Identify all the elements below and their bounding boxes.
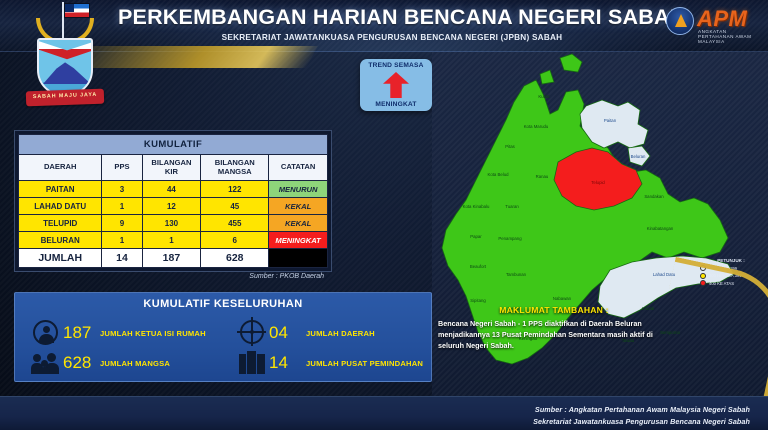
table-row: LAHAD DATU 1 12 45 KEKAL bbox=[19, 198, 328, 215]
footer-bar: Sumber : Angkatan Pertahanan Awam Malays… bbox=[0, 396, 768, 430]
map-label-sandakan: Sandakan bbox=[644, 194, 664, 199]
stat-value: 04 bbox=[269, 323, 299, 343]
map-label-nabawan: Nabawan bbox=[553, 296, 572, 301]
col-header-mangsa: BILANGANMANGSA bbox=[201, 155, 269, 181]
status-badge: KEKAL bbox=[269, 198, 328, 215]
stat-label: JUMLAH PUSAT PEMINDAHAN bbox=[306, 359, 423, 368]
stat-label: JUMLAH MANGSA bbox=[100, 359, 170, 368]
map-label-kota-kinabalu: Kota Kinabalu bbox=[463, 204, 490, 209]
status-badge: MENURUN bbox=[269, 181, 328, 198]
footer-source-line2: Sekretariat Jawatankuasa Pengurusan Benc… bbox=[533, 417, 750, 426]
table-title-row: KUMULATIF bbox=[19, 135, 328, 155]
map-label-ranau: Ranau bbox=[536, 174, 549, 179]
table-source-note: Sumber : PKOB Daerah bbox=[14, 273, 332, 280]
cell-kir: 12 bbox=[142, 198, 201, 215]
table-total-row: JUMLAH 14 187 628 bbox=[19, 249, 328, 268]
page-title: PERKEMBANGAN HARIAN BENCANA NEGERI SABAH bbox=[118, 5, 666, 30]
summary-panel: KUMULATIF KESELURUHAN 187 JUMLAH KETUA I… bbox=[14, 292, 432, 382]
total-label: JUMLAH bbox=[19, 249, 102, 268]
cell-mangsa: 6 bbox=[201, 232, 269, 249]
cell-pps: 1 bbox=[102, 198, 142, 215]
table-header-row: DAERAH PPS BILANGANKIR BILANGANMANGSA CA… bbox=[19, 155, 328, 181]
stat-mangsa: 628 JUMLAH MANGSA bbox=[31, 349, 170, 377]
crest-mountain bbox=[43, 60, 91, 84]
crest-motto: SABAH MAJU JAYA bbox=[26, 91, 104, 100]
cell-mangsa: 122 bbox=[201, 181, 269, 198]
island-small-a bbox=[540, 70, 554, 84]
cell-daerah: LAHAD DATU bbox=[19, 198, 102, 215]
maklumat-tambahan: MAKLUMAT TAMBAHAN : Bencana Negeri Sabah… bbox=[438, 305, 670, 351]
infographic-root: PERKEMBANGAN HARIAN BENCANA NEGERI SABAH… bbox=[0, 0, 768, 430]
map-label-tambunan: Tambunan bbox=[506, 272, 527, 277]
status-badge: MENINGKAT bbox=[269, 232, 328, 249]
stat-daerah: 04 JUMLAH DAERAH bbox=[237, 319, 375, 347]
cell-pps: 3 bbox=[102, 181, 142, 198]
crest-chevron bbox=[37, 40, 93, 60]
cell-kir: 44 bbox=[142, 181, 201, 198]
map-label-pitas: Pitas bbox=[505, 144, 515, 149]
crest-ribbon: SABAH MAJU JAYA bbox=[26, 89, 104, 107]
status-badge: KEKAL bbox=[269, 215, 328, 232]
stat-pusat-pemindahan: 14 JUMLAH PUSAT PEMINDAHAN bbox=[237, 349, 423, 377]
col-header-kir: BILANGANKIR bbox=[142, 155, 201, 181]
stat-value: 14 bbox=[269, 353, 299, 373]
map-label-beaufort: Beaufort bbox=[470, 264, 487, 269]
maklumat-title: MAKLUMAT TAMBAHAN : bbox=[438, 305, 670, 315]
map-label-tuaran: Tuaran bbox=[505, 204, 519, 209]
map-label-beluran: Beluran bbox=[631, 154, 646, 159]
total-catatan-blank bbox=[269, 249, 328, 268]
footer-source-line1: Sumber : Angkatan Pertahanan Awam Malays… bbox=[535, 405, 750, 414]
total-mangsa: 628 bbox=[201, 249, 269, 268]
table-row: PAITAN 3 44 122 MENURUN bbox=[19, 181, 328, 198]
kumulatif-table: KUMULATIF DAERAH PPS BILANGANKIR BILANGA… bbox=[18, 134, 328, 268]
cell-mangsa: 455 bbox=[201, 215, 269, 232]
apm-logo: APM ANGKATAN PERTAHANAN AWAM MALAYSIA bbox=[666, 4, 762, 40]
arrow-up-icon bbox=[383, 72, 409, 98]
kumulatif-table-panel: KUMULATIF DAERAH PPS BILANGANKIR BILANGA… bbox=[14, 130, 332, 272]
island-banggi bbox=[560, 54, 582, 72]
header-bar: PERKEMBANGAN HARIAN BENCANA NEGERI SABAH… bbox=[0, 0, 768, 52]
stat-value: 628 bbox=[63, 353, 93, 373]
map-label-kota-belud: Kota Belud bbox=[487, 172, 509, 177]
map-label-sipitang: Sipitang bbox=[470, 298, 486, 303]
legend-title: PETUNJUK : bbox=[700, 258, 762, 263]
cell-pps: 1 bbox=[102, 232, 142, 249]
map-label-paitan: Paitan bbox=[604, 118, 617, 123]
col-header-pps: PPS bbox=[102, 155, 142, 181]
page-subtitle: SEKRETARIAT JAWATANKUASA PENGURUSAN BENC… bbox=[118, 33, 666, 42]
building-icon bbox=[237, 349, 267, 377]
cell-daerah: BELURAN bbox=[19, 232, 102, 249]
map-label-kudat: Kudat bbox=[538, 94, 550, 99]
cell-daerah: PAITAN bbox=[19, 181, 102, 198]
map-label-kinabatangan: Kinabatangan bbox=[647, 226, 674, 231]
stat-value: 187 bbox=[63, 323, 93, 343]
cell-pps: 9 bbox=[102, 215, 142, 232]
map-label-papar: Papar bbox=[470, 234, 482, 239]
stat-label: JUMLAH KETUA ISI RUMAH bbox=[100, 329, 206, 338]
table-row: BELURAN 1 1 6 MENINGKAT bbox=[19, 232, 328, 249]
col-header-daerah: DAERAH bbox=[19, 155, 102, 181]
map-label-telupid-red: Telupid bbox=[591, 180, 605, 185]
target-crosshair-icon bbox=[237, 319, 267, 347]
cell-kir: 130 bbox=[142, 215, 201, 232]
sabah-state-crest-icon: SABAH MAJU JAYA bbox=[22, 2, 108, 110]
sabah-flag-icon bbox=[64, 3, 90, 18]
map-label-penampang: Penampang bbox=[498, 236, 522, 241]
trend-top-label: TREND SEMASA bbox=[360, 62, 432, 69]
trend-indicator-box: TREND SEMASA MENINGKAT bbox=[360, 59, 432, 111]
stat-label: JUMLAH DAERAH bbox=[306, 329, 375, 338]
table-title: KUMULATIF bbox=[19, 135, 328, 155]
maklumat-body: Bencana Negeri Sabah - 1 PPS diaktifkan … bbox=[438, 318, 670, 351]
cell-kir: 1 bbox=[142, 232, 201, 249]
map-label-kota-marudu: Kota Marudu bbox=[524, 124, 549, 129]
total-kir: 187 bbox=[142, 249, 201, 268]
family-group-icon bbox=[31, 349, 61, 377]
col-header-catatan: CATATAN bbox=[269, 155, 328, 181]
trend-bottom-label: MENINGKAT bbox=[360, 101, 432, 108]
total-pps: 14 bbox=[102, 249, 142, 268]
summary-title: KUMULATIF KESELURUHAN bbox=[15, 298, 431, 310]
table-row: TELUPID 9 130 455 KEKAL bbox=[19, 215, 328, 232]
person-circle-icon bbox=[31, 319, 61, 347]
cell-daerah: TELUPID bbox=[19, 215, 102, 232]
crest-shield bbox=[37, 38, 93, 96]
stat-ketua-isi-rumah: 187 JUMLAH KETUA ISI RUMAH bbox=[31, 319, 206, 347]
cell-mangsa: 45 bbox=[201, 198, 269, 215]
apm-badge-icon bbox=[666, 7, 694, 35]
apm-logo-subtext: ANGKATAN PERTAHANAN AWAM MALAYSIA bbox=[698, 29, 762, 44]
